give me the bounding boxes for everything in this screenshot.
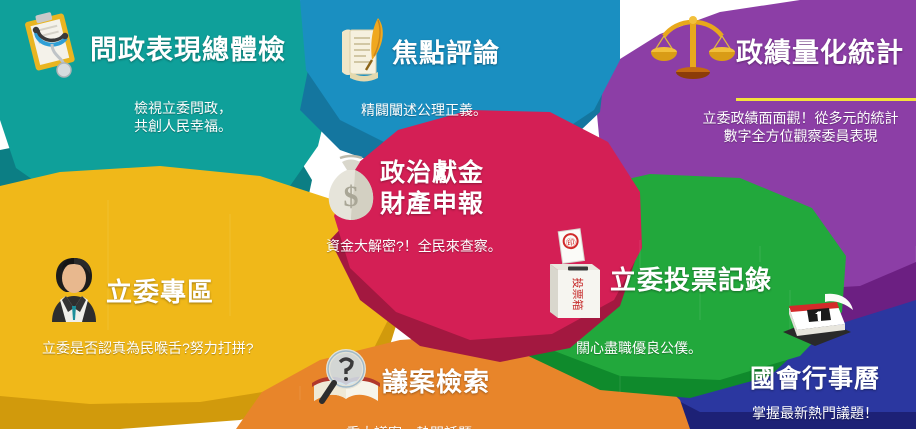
section-stats-subtitle: 立委政績面面觀！從多元的統計 數字全方位觀察委員表現 [650,109,916,146]
desk-calendar-icon [767,288,863,359]
clipboard-stethoscope-icon [18,8,90,87]
section-stats-title: 政績量化統計 [736,31,904,70]
section-money[interactable]: $ 政治獻金 財產申報 資金大解密?！全民來查察。 [322,150,502,255]
section-stats-subtitle-line-1: 立委政績面面觀！從多元的統計 [650,109,916,127]
section-member[interactable]: 立委專區 立委是否認真為民喉舌?努力打拼? [42,250,254,357]
section-health-subtitle-line-1: 檢視立委問政， [80,99,286,117]
section-calendar-title: 國會行事曆 [750,359,880,395]
book-magnifier-icon [310,345,382,416]
section-health-title: 問政表現總體檢 [90,28,286,67]
section-comment-subtitle-line-1: 精闢闡述公理正義。 [348,101,500,119]
section-money-subtitle-line-1: 資金大解密?！全民來查察。 [326,237,502,255]
section-member-subtitle: 立委是否認真為民喉舌?努力打拼? [42,339,254,357]
section-vote[interactable]: ㊞ 投票箱 立委投票記錄 關心盡職優良公僕。 [540,228,772,357]
section-money-title-line-1: 政治獻金 [380,158,484,189]
section-money-subtitle: 資金大解密?！全民來查察。 [326,237,502,255]
section-health-subtitle: 檢視立委問政， 共創人民幸福。 [80,99,286,136]
section-vote-title: 立委投票記錄 [610,260,772,297]
section-member-subtitle-line-1: 立委是否認真為民喉舌?努力打拼? [42,339,254,357]
section-stats-underline [736,98,916,101]
section-stats[interactable]: 政績量化統計 立委政績面面觀！從多元的統計 數字全方位觀察委員表現 [650,8,916,146]
section-money-title: 政治獻金 財產申報 [380,158,484,219]
section-member-title: 立委專區 [106,272,214,309]
section-money-title-line-2: 財產申報 [380,189,484,220]
section-stats-subtitle-line-2: 數字全方位觀察委員表現 [650,127,916,145]
balance-scale-icon [650,8,736,93]
section-vote-subtitle: 關心盡職優良公僕。 [576,339,772,357]
section-comment-subtitle: 精闢闡述公理正義。 [348,101,500,119]
svg-text:$: $ [344,180,359,213]
section-calendar[interactable]: 國會行事曆 掌握最新熱門議題！ [750,288,880,422]
section-bill-title: 議案檢索 [382,362,490,399]
menu-collage: 問政表現總體檢 檢視立委問政， 共創人民幸福。 [0,0,916,429]
section-bill-subtitle: 重大議案，熱門話題。 [346,424,490,429]
section-health-subtitle-line-2: 共創人民幸福。 [80,117,286,135]
section-bill-subtitle-line-1: 重大議案，熱門話題。 [346,424,490,429]
section-comment-title: 焦點評論 [392,33,500,70]
svg-text:㊞: ㊞ [565,237,577,250]
money-bag-icon: $ [322,150,380,227]
quill-scroll-icon [330,14,392,89]
svg-text:投票箱: 投票箱 [571,278,585,311]
section-calendar-subtitle: 掌握最新熱門議題！ [750,404,880,422]
legislator-avatar-icon [42,250,106,331]
ballot-box-icon: ㊞ 投票箱 [540,228,610,329]
section-health[interactable]: 問政表現總體檢 檢視立委問政， 共創人民幸福。 [18,8,286,136]
section-vote-subtitle-line-1: 關心盡職優良公僕。 [576,339,772,357]
section-bill[interactable]: 議案檢索 重大議案，熱門話題。 [310,345,490,429]
section-calendar-subtitle-line-1: 掌握最新熱門議題！ [750,404,880,422]
section-comment[interactable]: 焦點評論 精闢闡述公理正義。 [330,14,500,119]
